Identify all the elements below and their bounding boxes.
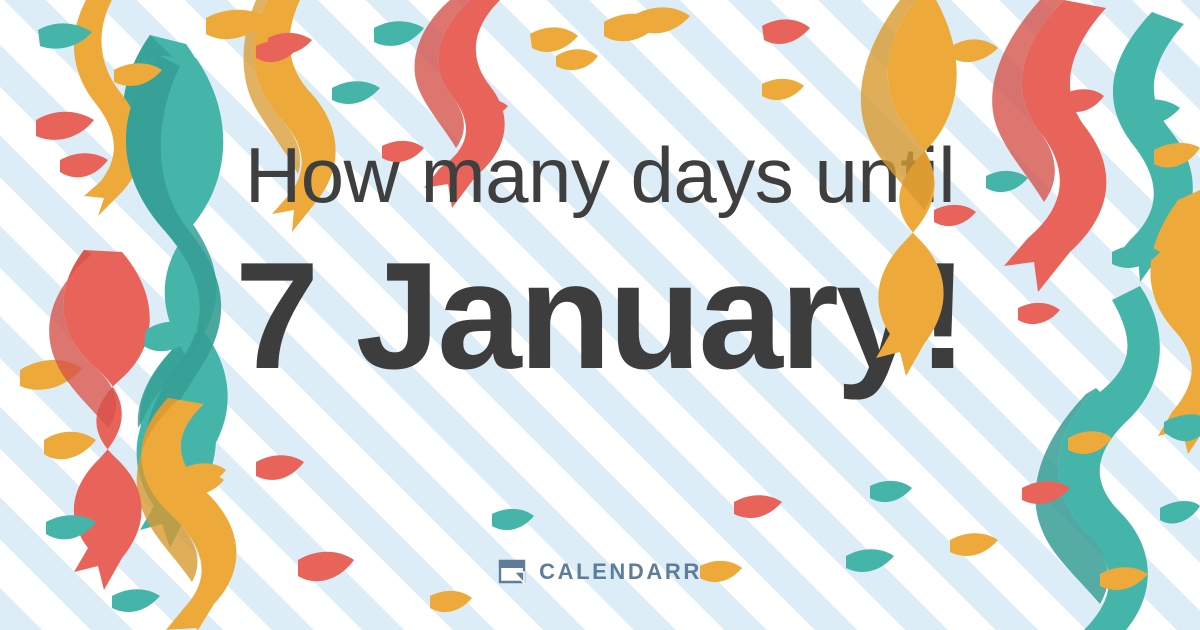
calendarr-wordmark: CALENDARR <box>539 561 702 583</box>
calendarr-logo[interactable]: CALENDARR <box>0 558 1200 586</box>
share-card: How many days until 7 January! <box>0 0 1200 630</box>
calendarr-page-icon <box>498 558 526 586</box>
diagonal-stripe-background <box>0 0 1200 630</box>
